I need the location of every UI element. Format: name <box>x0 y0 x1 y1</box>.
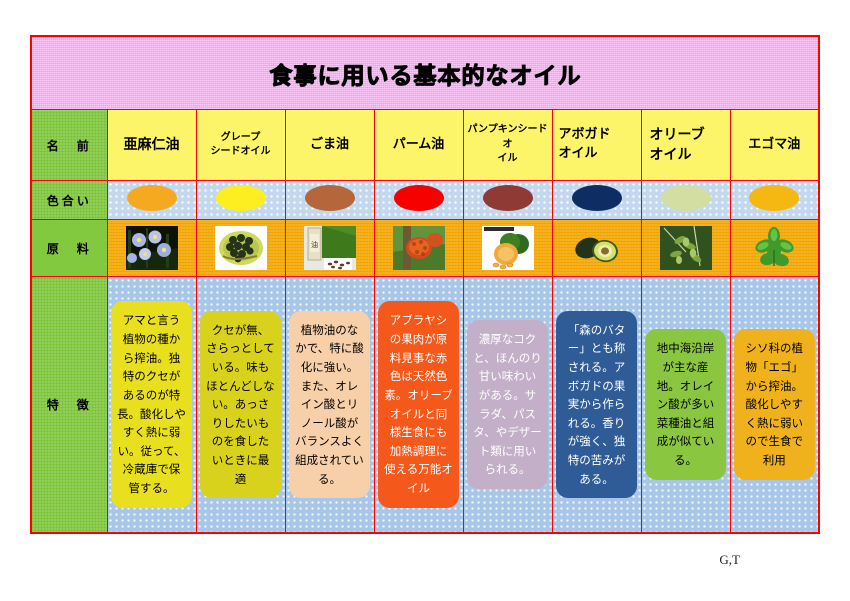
row-label-material: 原 料 <box>31 220 107 277</box>
color-cell-1 <box>196 181 285 220</box>
color-swatch-icon-6 <box>661 185 711 211</box>
feature-text-2: 植物油のなかで、特に酸化に強い。また、オレイン酸とリノール酸がバランスよく組成さ… <box>289 311 370 499</box>
color-cell-6 <box>641 181 730 220</box>
color-swatch-icon-4 <box>483 185 533 211</box>
name-cell-7: エゴマ油 <box>730 110 819 181</box>
feature-cell-2: 植物油のなかで、特に酸化に強い。また、オレイン酸とリノール酸がバランスよく組成さ… <box>285 277 374 534</box>
oil-name-4-line1: パンプキンシードオ <box>464 123 552 152</box>
color-row: 色合い <box>31 181 819 220</box>
material-cell-1 <box>196 220 285 277</box>
feature-cell-7: シソ科の植物「エゴ」から搾油。酸化しやすく熱に弱いので生食で利用 <box>730 277 819 534</box>
color-swatch-icon-3 <box>394 185 444 211</box>
name-cell-6: オリーブ オイル <box>641 110 730 181</box>
grapes-photo <box>215 226 267 270</box>
material-row: 原 料 <box>31 220 819 277</box>
feature-text-7: シソ科の植物「エゴ」から搾油。酸化しやすく熱に弱いので生食で利用 <box>734 329 815 479</box>
oil-name-5-line2: オイル <box>559 145 641 164</box>
sesame-photo: 油 <box>304 226 356 270</box>
name-cell-1: グレープ シードオイル <box>196 110 285 181</box>
feature-cell-5: 「森のバター」とも称される。アボガドの果実から作られる。香りが強く、独特の苦みが… <box>552 277 641 534</box>
palm-fruit-photo <box>393 226 445 270</box>
row-label-name: 名 前 <box>31 110 107 181</box>
oil-name-7: エゴマ油 <box>731 136 819 155</box>
feature-text-5: 「森のバター」とも称される。アボガドの果実から作られる。香りが強く、独特の苦みが… <box>556 311 637 499</box>
oil-name-2: ごま油 <box>286 136 374 155</box>
row-label-color: 色合い <box>31 181 107 220</box>
oil-name-3: パーム油 <box>375 136 463 155</box>
oil-name-6-line1: オリーブ <box>650 125 730 145</box>
color-cell-3 <box>374 181 463 220</box>
oil-name-1-line1: グレープ <box>197 131 285 146</box>
perilla-leaves-photo <box>748 226 800 270</box>
color-swatch-icon-7 <box>749 185 799 211</box>
material-cell-2: 油 <box>285 220 374 277</box>
svg-text:油: 油 <box>311 240 318 249</box>
flax-flowers-photo <box>126 226 178 270</box>
material-cell-7 <box>730 220 819 277</box>
pumpkin-photo <box>482 226 534 270</box>
row-label-feature: 特 徴 <box>31 277 107 534</box>
name-cell-0: 亜麻仁油 <box>107 110 196 181</box>
oil-name-5-line1: アボガド <box>559 126 641 145</box>
name-row: 名 前 亜麻仁油 グレープ シードオイル ごま油 パーム油 パンプキンシードオ … <box>31 110 819 181</box>
color-cell-0 <box>107 181 196 220</box>
page-canvas: 食事に用いる基本的なオイル 名 前 亜麻仁油 グレープ シードオイル ごま油 パ… <box>0 0 850 601</box>
color-cell-2 <box>285 181 374 220</box>
page-title: 食事に用いる基本的なオイル <box>269 63 581 89</box>
author-signature: G,T <box>719 552 740 568</box>
oil-name-6-line2: オイル <box>650 145 730 165</box>
feature-cell-3: アブラヤシの果肉が原料見事な赤色は天然色素。オリーブオイルと同様生食にも加熱調理… <box>374 277 463 534</box>
feature-cell-1: クセが無、さらっとしている。味もほとんどしない。あっさりしたいものを食したいとき… <box>196 277 285 534</box>
feature-cell-4: 濃厚なコクと、ほんのり甘い味わいがある。サラダ、パスタ、やデザート類に用いられる… <box>463 277 552 534</box>
material-cell-5 <box>552 220 641 277</box>
feature-cell-0: アマと言う植物の種から搾油。独特のクセがあるのが特長。酸化しやすく熱に弱い。従っ… <box>107 277 196 534</box>
feature-text-0: アマと言う植物の種から搾油。独特のクセがあるのが特長。酸化しやすく熱に弱い。従っ… <box>111 301 192 507</box>
color-swatch-icon-5 <box>572 185 622 211</box>
material-cell-6 <box>641 220 730 277</box>
feature-cell-6: 地中海沿岸が主な産地。オレイン酸が多い菜種油と組成が似ている。 <box>641 277 730 534</box>
oil-comparison-table: 食事に用いる基本的なオイル 名 前 亜麻仁油 グレープ シードオイル ごま油 パ… <box>30 35 820 534</box>
material-cell-4 <box>463 220 552 277</box>
oil-name-0: 亜麻仁油 <box>108 135 196 155</box>
name-cell-3: パーム油 <box>374 110 463 181</box>
table-title-cell: 食事に用いる基本的なオイル <box>31 36 819 110</box>
feature-text-3: アブラヤシの果肉が原料見事な赤色は天然色素。オリーブオイルと同様生食にも加熱調理… <box>378 301 459 507</box>
color-cell-5 <box>552 181 641 220</box>
feature-text-6: 地中海沿岸が主な産地。オレイン酸が多い菜種油と組成が似ている。 <box>645 329 726 479</box>
color-swatch-icon-2 <box>305 185 355 211</box>
color-cell-4 <box>463 181 552 220</box>
oil-name-1-line2: シードオイル <box>197 145 285 160</box>
color-swatch-icon-1 <box>216 185 266 211</box>
name-cell-5: アボガド オイル <box>552 110 641 181</box>
color-cell-7 <box>730 181 819 220</box>
material-cell-0 <box>107 220 196 277</box>
feature-text-1: クセが無、さらっとしている。味もほとんどしない。あっさりしたいものを食したいとき… <box>200 311 281 499</box>
avocado-photo <box>571 226 623 270</box>
name-cell-2: ごま油 <box>285 110 374 181</box>
color-swatch-icon-0 <box>127 185 177 211</box>
material-cell-3 <box>374 220 463 277</box>
title-row: 食事に用いる基本的なオイル <box>31 36 819 110</box>
feature-text-4: 濃厚なコクと、ほんのり甘い味わいがある。サラダ、パスタ、やデザート類に用いられる… <box>467 320 548 489</box>
olive-branch-photo <box>660 226 712 270</box>
feature-row: 特 徴 アマと言う植物の種から搾油。独特のクセがあるのが特長。酸化しやすく熱に弱… <box>31 277 819 534</box>
name-cell-4: パンプキンシードオ イル <box>463 110 552 181</box>
oil-name-4-line2: イル <box>464 152 552 167</box>
